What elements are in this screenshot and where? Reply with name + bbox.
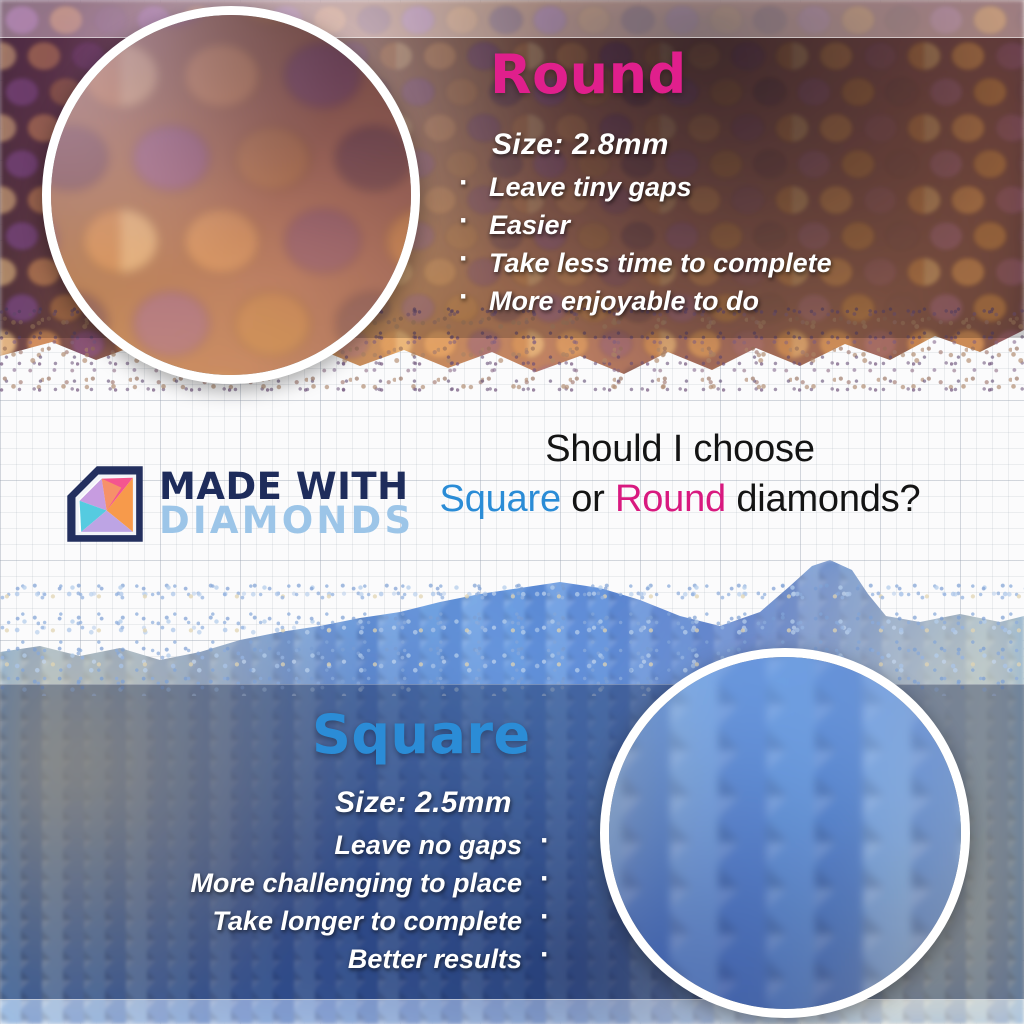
question-or: or xyxy=(561,478,615,520)
round-heading: Round xyxy=(490,48,687,102)
round-inset-texture xyxy=(42,6,420,384)
center-question: Should I choose Square or Round diamonds… xyxy=(430,424,930,524)
list-item: More enjoyable to do xyxy=(455,282,832,320)
logo-line-2: DIAMONDS xyxy=(159,504,414,538)
made-with-diamonds-logo: MADE WITH DIAMONDS xyxy=(64,463,414,545)
list-item: Take longer to complete xyxy=(0,902,556,940)
square-closeup-inset xyxy=(600,648,970,1018)
question-line-1: Should I choose xyxy=(430,424,930,474)
list-item: Leave no gaps xyxy=(0,826,556,864)
round-heading-text: Round xyxy=(490,43,687,106)
list-item: More challenging to place xyxy=(0,864,556,902)
list-item: Take less time to complete xyxy=(455,244,832,282)
question-tail: diamonds? xyxy=(726,478,920,520)
round-closeup-inset xyxy=(42,6,420,384)
square-heading: Square xyxy=(312,708,531,762)
logo-wordmark: MADE WITH DIAMONDS xyxy=(159,470,414,538)
square-size-line: Size: 2.5mm xyxy=(335,786,512,820)
round-benefits-list: Leave tiny gaps Easier Take less time to… xyxy=(455,168,832,320)
square-inset-texture xyxy=(600,648,970,1018)
square-benefits-list: Leave no gaps More challenging to place … xyxy=(0,826,556,978)
question-square-word: Square xyxy=(440,478,561,520)
round-size-line: Size: 2.8mm xyxy=(492,128,669,162)
square-heading-text: Square xyxy=(312,703,531,766)
list-item: Better results xyxy=(0,940,556,978)
question-round-word: Round xyxy=(615,478,726,520)
infographic-poster: Round Size: 2.8mm Leave tiny gaps Easier… xyxy=(0,0,1024,1024)
list-item: Leave tiny gaps xyxy=(455,168,832,206)
list-item: Easier xyxy=(455,206,832,244)
question-line-2: Square or Round diamonds? xyxy=(430,474,930,524)
diamond-gem-logo-mark xyxy=(64,463,146,545)
